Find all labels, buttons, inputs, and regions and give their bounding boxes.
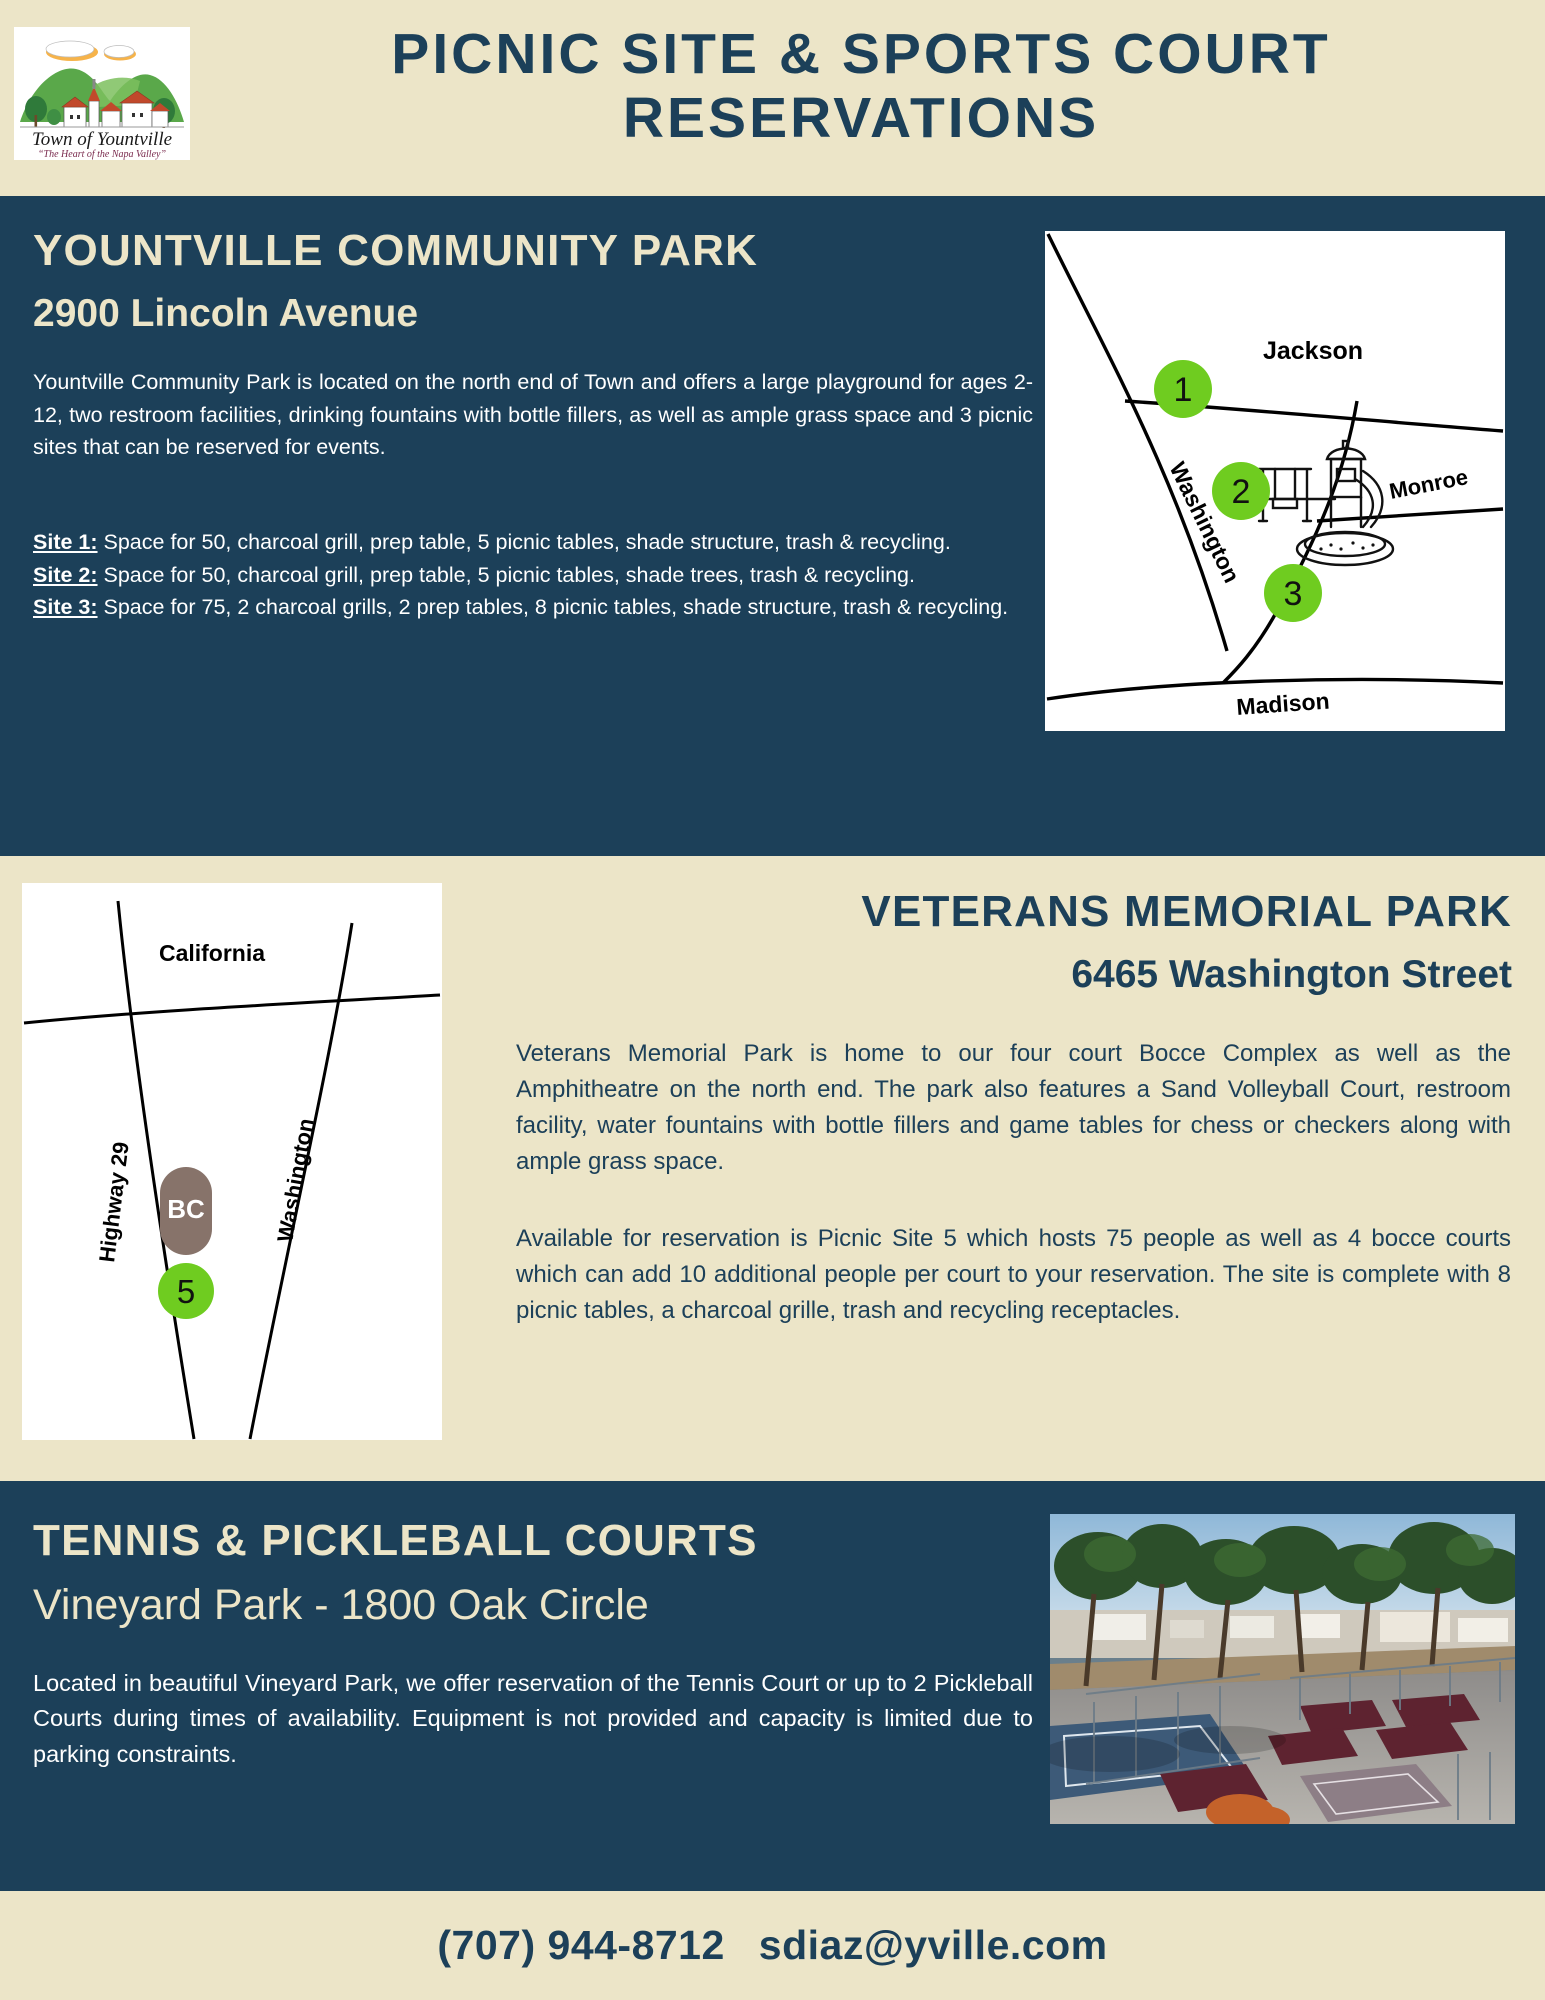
map1-marker-2-label: 2 [1232, 473, 1251, 511]
section1-intro-text: Yountville Community Park is located on … [33, 366, 1033, 464]
map2-marker-5-label: 5 [177, 1273, 195, 1310]
contact-phone[interactable]: (707) 944-8712 [437, 1922, 724, 1969]
section2-paragraph-2: Available for reservation is Picnic Site… [516, 1221, 1511, 1329]
section2-address: 6465 Washington Street [1071, 953, 1512, 997]
tennis-courts-photo [1050, 1514, 1515, 1824]
section1-address: 2900 Lincoln Avenue [33, 292, 418, 336]
section-yountville-community-park: YOUNTVILLE COMMUNITY PARK 2900 Lincoln A… [0, 196, 1545, 856]
site-label: Site 2: [33, 563, 98, 587]
section1-title: YOUNTVILLE COMMUNITY PARK [33, 226, 758, 276]
map2-marker-bocce: BC [160, 1167, 212, 1255]
map-yountville-community-park: Jackson Washington Monroe Madison [1045, 231, 1505, 731]
section3-body-text: Located in beautiful Vineyard Park, we o… [33, 1666, 1033, 1772]
site-item: Site 2: Space for 50, charcoal grill, pr… [33, 559, 1033, 592]
site-text: Space for 50, charcoal grill, prep table… [98, 563, 915, 587]
logo-tagline: “The Heart of the Napa Valley” [38, 149, 166, 160]
map-veterans-memorial-park: California Highway 29 Washington BC 5 [22, 883, 442, 1440]
page-title: PICNIC SITE & SPORTS COURT RESERVATIONS [196, 22, 1526, 151]
site-label: Site 1: [33, 530, 98, 554]
section2-paragraph-1: Veterans Memorial Park is home to our fo… [516, 1036, 1511, 1180]
site-text: Space for 50, charcoal grill, prep table… [98, 530, 951, 554]
section3-title: TENNIS & PICKLEBALL COURTS [33, 1516, 758, 1566]
map2-artwork: California Highway 29 Washington BC 5 [22, 883, 442, 1440]
map1-artwork: Jackson Washington Monroe Madison [1045, 231, 1505, 731]
map2-marker-5: 5 [158, 1263, 214, 1319]
contact-email[interactable]: sdiaz@yville.com [759, 1922, 1108, 1969]
map1-marker-1-label: 1 [1174, 371, 1193, 409]
flyer-page: Town of Yountville “The Heart of the Nap… [0, 0, 1545, 2000]
section2-title: VETERANS MEMORIAL PARK [861, 887, 1512, 937]
tennis-courts-photo-artwork [1050, 1514, 1515, 1824]
section-veterans-memorial-park: California Highway 29 Washington BC 5 VE… [0, 856, 1545, 1481]
site-text: Space for 75, 2 charcoal grills, 2 prep … [98, 595, 1009, 619]
map1-marker-3: 3 [1264, 564, 1322, 622]
page-footer: (707) 944-8712 sdiaz@yville.com [0, 1891, 1545, 2000]
map1-label-jackson: Jackson [1263, 337, 1363, 365]
page-header: Town of Yountville “The Heart of the Nap… [0, 0, 1545, 196]
site-label: Site 3: [33, 595, 98, 619]
logo-town-name: Town of Yountville [32, 129, 172, 150]
map1-marker-3-label: 3 [1284, 575, 1303, 613]
section3-address: Vineyard Park - 1800 Oak Circle [33, 1581, 649, 1630]
site-item: Site 1: Space for 50, charcoal grill, pr… [33, 526, 1033, 559]
section1-site-list: Site 1: Space for 50, charcoal grill, pr… [33, 526, 1033, 624]
map1-marker-1: 1 [1154, 360, 1212, 418]
map2-marker-bocce-label: BC [167, 1194, 205, 1224]
map1-marker-2: 2 [1212, 462, 1270, 520]
town-of-yountville-logo: Town of Yountville “The Heart of the Nap… [14, 27, 190, 160]
site-item: Site 3: Space for 75, 2 charcoal grills,… [33, 591, 1033, 624]
logo-artwork: Town of Yountville “The Heart of the Nap… [14, 27, 190, 160]
map2-label-california: California [159, 940, 265, 966]
section-tennis-pickleball-courts: TENNIS & PICKLEBALL COURTS Vineyard Park… [0, 1481, 1545, 1891]
